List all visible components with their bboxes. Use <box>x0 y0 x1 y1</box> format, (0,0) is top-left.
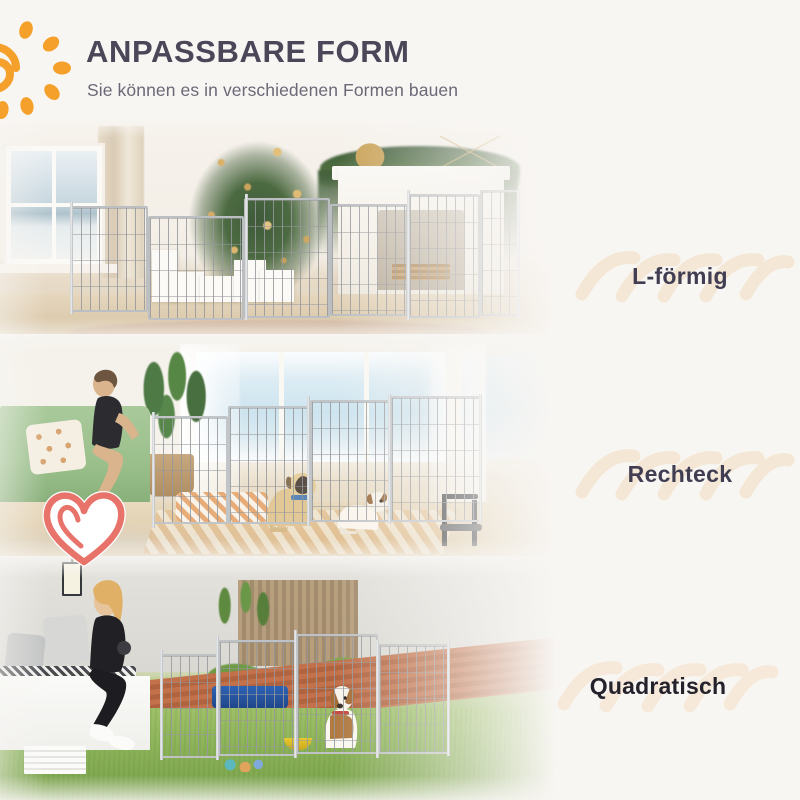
dog-toys <box>224 754 268 772</box>
shape-label-text: L-förmig <box>560 238 800 314</box>
infographic-root: ANPASSBARE FORM Sie können es in verschi… <box>0 0 800 800</box>
woman-with-cup <box>74 576 160 756</box>
shape-label-l-shape: L-förmig <box>560 238 800 314</box>
pet-playpen-rectangle <box>152 394 482 536</box>
shape-label-square: Quadratisch <box>538 648 778 724</box>
photo-panel-l-shape <box>0 118 580 340</box>
pet-playpen-square <box>160 626 450 752</box>
shape-label-text: Quadratisch <box>538 648 778 724</box>
shape-label-rectangle: Rechteck <box>560 436 800 512</box>
heart-doodle-icon <box>40 488 126 568</box>
shape-label-column: L-förmig Rechteck <box>560 118 800 800</box>
shape-label-text: Rechteck <box>560 436 800 512</box>
sun-spiral-icon <box>0 22 82 114</box>
page-subtitle: Sie können es in verschiedenen Formen ba… <box>87 80 458 101</box>
reindeer-ornament <box>352 140 388 168</box>
pet-playpen-l-shape <box>70 190 520 320</box>
header: ANPASSBARE FORM Sie können es in verschi… <box>0 0 800 122</box>
photo-panel-square <box>0 556 580 800</box>
page-title: ANPASSBARE FORM <box>86 36 410 67</box>
